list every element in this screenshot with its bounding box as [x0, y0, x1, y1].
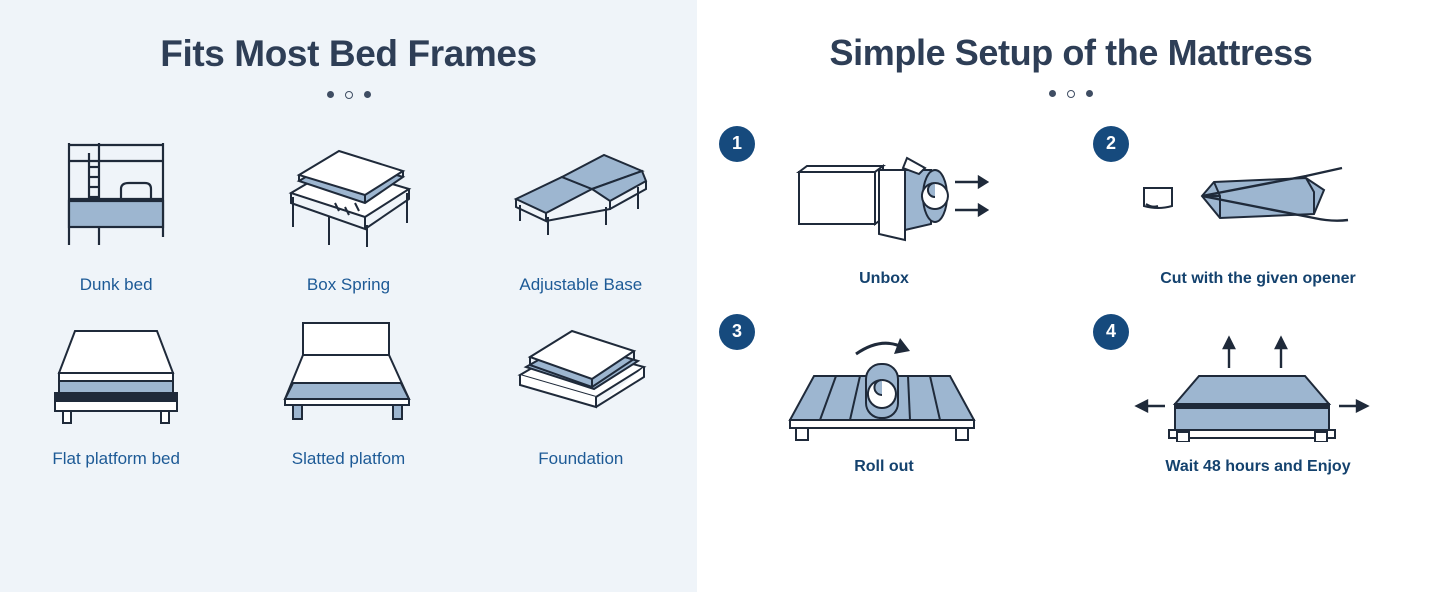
bed-frames-panel: Fits Most Bed Frames	[0, 0, 697, 592]
box-spring-icon	[273, 131, 423, 261]
title-dots-left	[0, 91, 697, 99]
cutter-icon	[1128, 138, 1388, 260]
adjustable-base-icon	[506, 131, 656, 261]
frame-label: Slatted platfom	[292, 449, 405, 469]
frame-label: Box Spring	[307, 275, 390, 295]
step-number-badge: 3	[719, 314, 755, 350]
frame-item-foundation[interactable]: Foundation	[465, 305, 697, 469]
dot-hollow-icon	[1067, 90, 1075, 98]
flat-platform-bed-icon	[41, 305, 191, 435]
frame-item-slatted-platform[interactable]: Slatted platfom	[232, 305, 464, 469]
title-dots-right	[697, 90, 1445, 98]
step-item-cut[interactable]: 2 Cut	[1071, 124, 1445, 288]
bed-frames-grid: Dunk bed	[0, 131, 697, 469]
step-label: Unbox	[859, 270, 909, 288]
step-item-wait-enjoy[interactable]: 4	[1071, 312, 1445, 476]
dot-filled-icon	[327, 91, 334, 98]
setup-steps-grid: 1	[697, 124, 1445, 476]
frame-label: Adjustable Base	[519, 275, 642, 295]
step-label: Wait 48 hours and Enjoy	[1165, 458, 1350, 476]
page-title-left: Fits Most Bed Frames	[0, 0, 697, 74]
step-label: Roll out	[854, 458, 914, 476]
step-item-unbox[interactable]: 1	[697, 124, 1071, 288]
bunk-bed-icon	[51, 131, 181, 261]
step-number-badge: 1	[719, 126, 755, 162]
frame-item-box-spring[interactable]: Box Spring	[232, 131, 464, 295]
dot-filled-icon	[1086, 90, 1093, 97]
dot-hollow-icon	[345, 91, 353, 99]
infographic-board: Fits Most Bed Frames	[0, 0, 1445, 592]
frame-item-bunk-bed[interactable]: Dunk bed	[0, 131, 232, 295]
frame-label: Flat platform bed	[52, 449, 180, 469]
frame-item-adjustable-base[interactable]: Adjustable Base	[465, 131, 697, 295]
expand-icon	[1133, 326, 1383, 448]
dot-filled-icon	[1049, 90, 1056, 97]
frame-item-flat-platform-bed[interactable]: Flat platform bed	[0, 305, 232, 469]
frame-label: Dunk bed	[80, 275, 153, 295]
step-item-roll-out[interactable]: 3	[697, 312, 1071, 476]
slatted-platform-icon	[273, 305, 423, 435]
frame-label: Foundation	[538, 449, 623, 469]
setup-steps-panel: Simple Setup of the Mattress 1	[697, 0, 1445, 592]
step-number-badge: 4	[1093, 314, 1129, 350]
foundation-icon	[506, 305, 656, 435]
roll-out-icon	[774, 326, 994, 448]
page-title-right: Simple Setup of the Mattress	[697, 0, 1445, 73]
step-label: Cut with the given opener	[1160, 270, 1356, 288]
unbox-icon	[779, 138, 989, 260]
step-number-badge: 2	[1093, 126, 1129, 162]
dot-filled-icon	[364, 91, 371, 98]
